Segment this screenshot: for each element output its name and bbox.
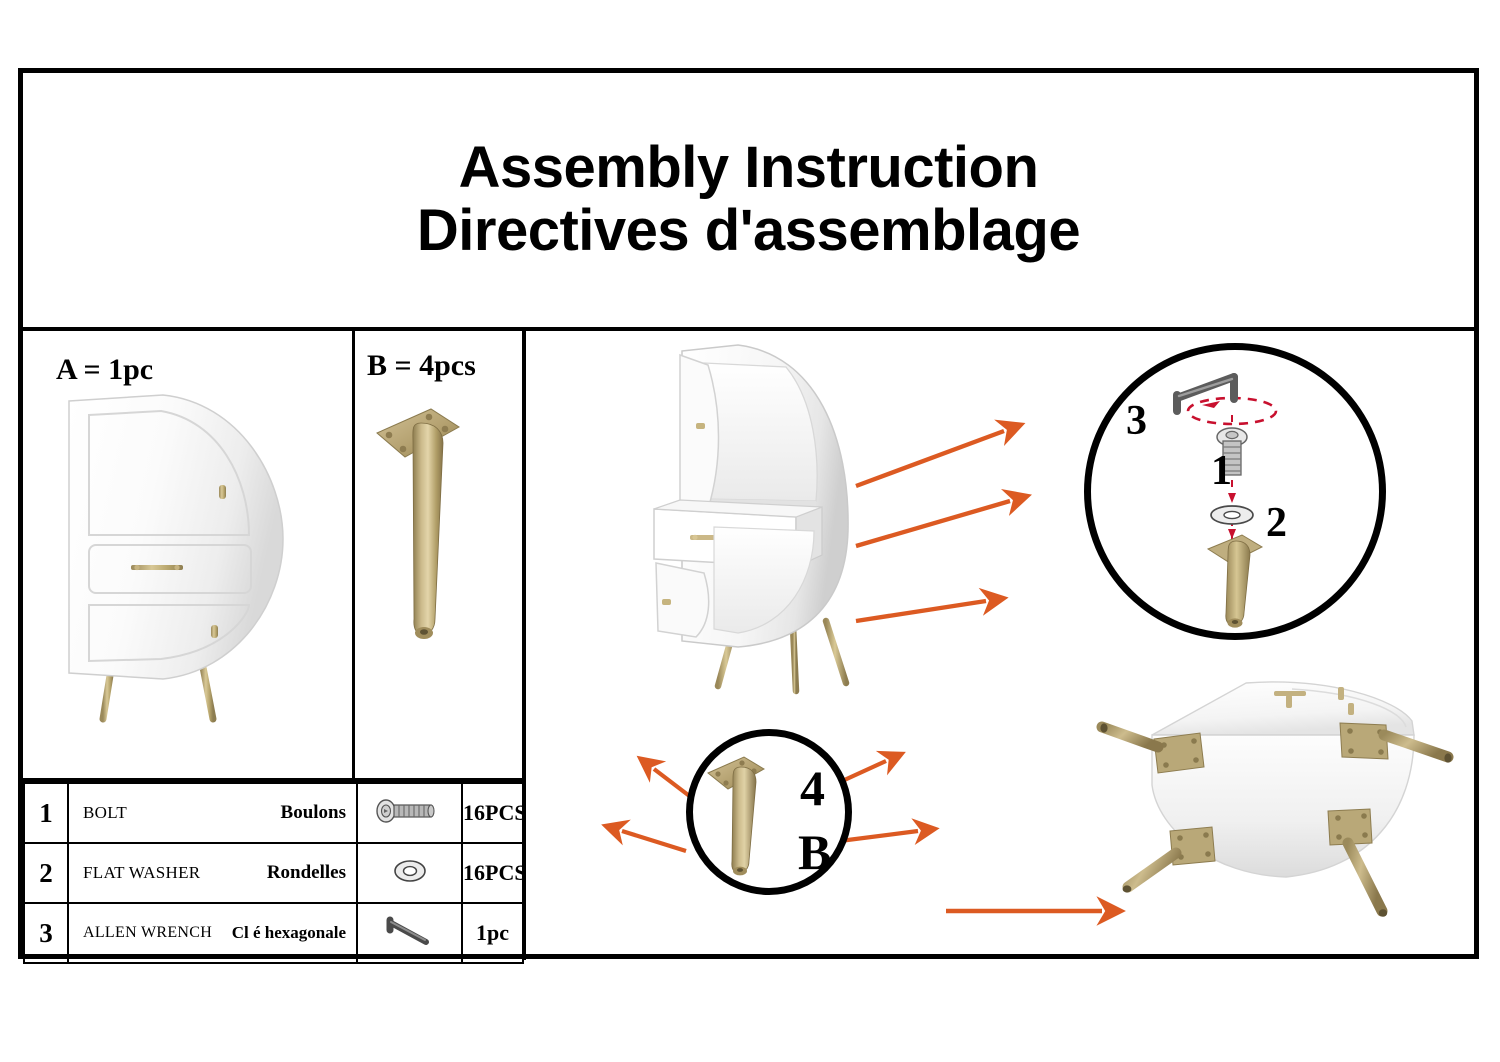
row-number: 3 xyxy=(24,903,68,963)
assembly-instruction-sheet: Assembly Instruction Directives d'assemb… xyxy=(0,0,1500,1062)
row-icon-cell xyxy=(357,843,462,903)
row-number: 2 xyxy=(24,843,68,903)
title-block: Assembly Instruction Directives d'assemb… xyxy=(23,73,1474,331)
hardware-table: 1 BOLT Boulons xyxy=(23,782,524,964)
leg-callout-illustration xyxy=(704,749,794,879)
row-number: 1 xyxy=(24,783,68,843)
table-row: 3 ALLEN WRENCH Cl é hexagonale xyxy=(24,903,523,963)
table-row: 2 FLAT WASHER Rondelles xyxy=(24,843,523,903)
cabinet-open-illustration xyxy=(618,341,908,696)
part-a-label-text: A = 1pc xyxy=(56,353,153,386)
door-knob-icon xyxy=(696,423,705,429)
row-name-fr: Boulons xyxy=(281,802,346,824)
part-b-cell: B = 4pcs xyxy=(352,331,522,778)
row-icon-cell xyxy=(357,903,462,963)
part-a-cell: A = 1pc xyxy=(23,331,352,778)
row-icon-cell xyxy=(357,783,462,843)
assembly-diagram-panel: 3 1 2 xyxy=(526,331,1474,960)
title-french: Directives d'assemblage xyxy=(417,200,1080,263)
allen-wrench-icon xyxy=(382,914,438,948)
callout-label-wrench: 3 xyxy=(1126,397,1147,445)
row-name-en: BOLT xyxy=(83,803,127,823)
allen-wrench-detail-icon xyxy=(1177,377,1234,411)
door-knob-icon xyxy=(662,599,671,605)
row-qty: 1pc xyxy=(462,903,523,963)
mounted-leg xyxy=(1123,827,1215,893)
callout-label-bolt: 1 xyxy=(1211,447,1232,495)
row-name-fr: Cl é hexagonale xyxy=(232,923,346,943)
flat-washer-detail-icon xyxy=(1211,506,1253,524)
part-a-label: A = 1pc xyxy=(56,353,153,387)
flat-washer-icon xyxy=(390,857,430,885)
parts-panel: A = 1pc xyxy=(23,331,526,960)
part-b-label-text: B = 4pcs xyxy=(367,349,476,382)
part-a-illustration xyxy=(51,389,321,729)
leg-target-illustration xyxy=(1208,535,1262,628)
parts-illustrations: A = 1pc xyxy=(23,331,522,778)
part-b-illustration xyxy=(373,389,505,659)
row-qty: 16PCS xyxy=(462,783,523,843)
part-b-label: B = 4pcs xyxy=(367,349,476,383)
row-name: ALLEN WRENCH Cl é hexagonale xyxy=(68,903,357,963)
hardware-detail-illustration xyxy=(1084,343,1386,640)
final-assembly-illustration xyxy=(1096,663,1474,948)
bolt-icon xyxy=(371,798,449,824)
table-row: 1 BOLT Boulons xyxy=(24,783,523,843)
row-name-en: FLAT WASHER xyxy=(83,863,200,883)
hardware-table-wrapper: 1 BOLT Boulons xyxy=(23,778,522,960)
row-name: FLAT WASHER Rondelles xyxy=(68,843,357,903)
row-name-en: ALLEN WRENCH xyxy=(83,924,212,942)
instruction-frame: Assembly Instruction Directives d'assemb… xyxy=(18,68,1479,959)
callout-label-washer: 2 xyxy=(1266,499,1287,547)
row-qty: 16PCS xyxy=(462,843,523,903)
leg-callout-part: B xyxy=(798,823,831,881)
leg-callout-qty: 4 xyxy=(800,759,825,817)
row-name-fr: Rondelles xyxy=(267,862,346,884)
title-english: Assembly Instruction xyxy=(459,137,1039,200)
row-name: BOLT Boulons xyxy=(68,783,357,843)
